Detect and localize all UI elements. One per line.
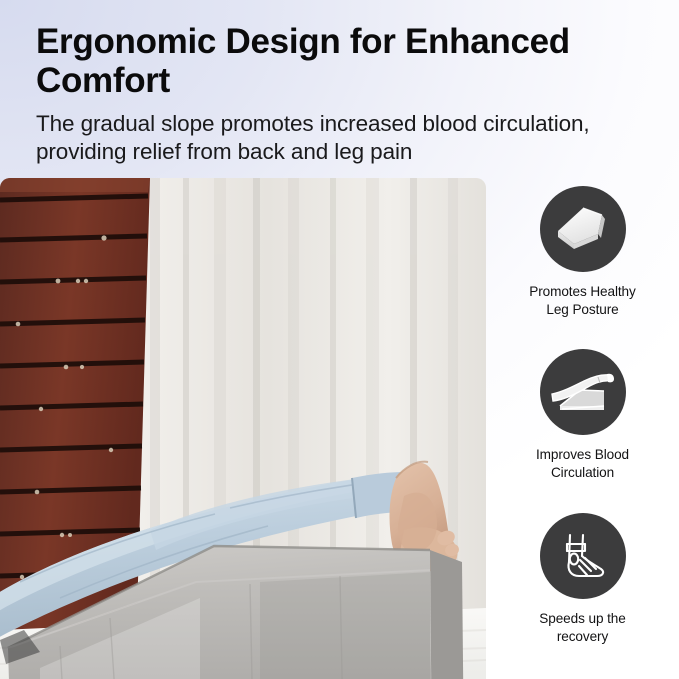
page-subtitle: The gradual slope promotes increased blo… — [36, 110, 656, 167]
feature-label: Improves Blood Circulation — [486, 446, 679, 482]
feature-item-leg-posture: Promotes Healthy Leg Posture — [486, 186, 679, 319]
product-photo — [0, 178, 486, 679]
header: Ergonomic Design for Enhanced Comfort Th… — [0, 0, 679, 178]
feature-item-blood-circulation: Improves Blood Circulation — [486, 349, 679, 482]
feature-list: Promotes Healthy Leg Posture — [486, 178, 679, 679]
feature-label: Speeds up the recovery — [486, 610, 679, 646]
wedge-pillow-icon — [540, 186, 626, 272]
legs-on-wedge-icon — [540, 349, 626, 435]
ankle-brace-foot-icon — [540, 513, 626, 599]
feature-label: Promotes Healthy Leg Posture — [486, 283, 679, 319]
infographic-page: Ergonomic Design for Enhanced Comfort Th… — [0, 0, 679, 679]
page-title: Ergonomic Design for Enhanced Comfort — [36, 22, 636, 100]
feature-item-recovery: Speeds up the recovery — [486, 513, 679, 646]
feature-label-line2: Leg Posture — [546, 302, 618, 317]
feature-label-line1: Improves Blood — [536, 447, 629, 462]
feature-label-line2: Circulation — [551, 465, 614, 480]
feature-label-line2: recovery — [557, 629, 608, 644]
feature-label-line1: Promotes Healthy — [529, 284, 635, 299]
feature-label-line1: Speeds up the — [539, 611, 625, 626]
